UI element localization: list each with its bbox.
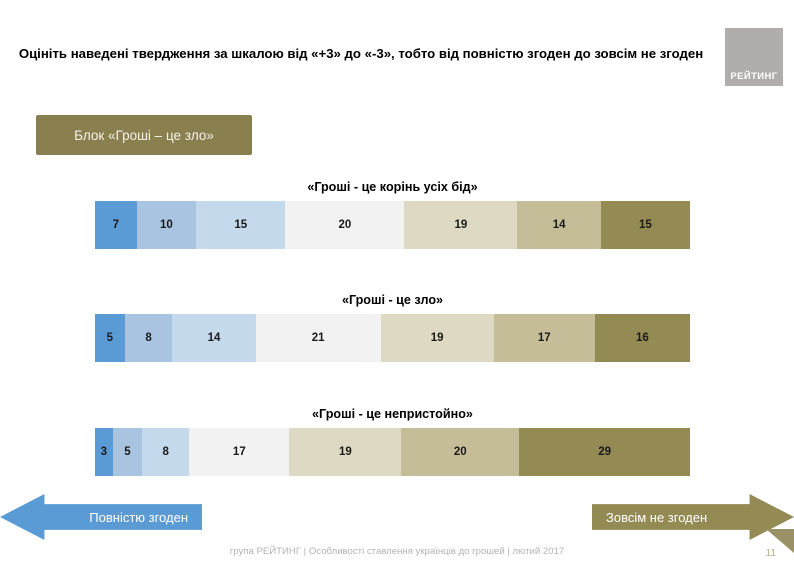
chart-title: «Гроші - це корінь усіх бід» [95,180,690,194]
chart-money-root-of-evil: «Гроші - це корінь усіх бід» 71015201914… [95,180,690,249]
bar-segment: 15 [196,201,285,249]
block-label: Блок «Гроші – це зло» [36,115,252,155]
footer-text: група РЕЙТИНГ | Особливості ставлення ук… [0,546,794,557]
stacked-bar: 7101520191415 [95,201,690,249]
bar-segment: 7 [95,201,137,249]
bar-segment: 19 [289,428,401,476]
rating-logo: РЕЙТИНГ [725,28,783,86]
stacked-bar: 35817192029 [95,428,690,476]
chart-money-is-evil: «Гроші - це зло» 581421191716 [95,293,690,362]
bar-segment: 8 [125,314,173,362]
bar-segment: 29 [519,428,690,476]
block-label-text: Блок «Гроші – це зло» [74,128,214,143]
bar-segment: 14 [517,201,600,249]
legend-arrow-fully-disagree-label: Зовсім не згоден [606,510,707,525]
bar-segment: 16 [595,314,690,362]
chart-title: «Гроші - це зло» [95,293,690,307]
chart-title: «Гроші - це непристойно» [95,407,690,421]
page-title: Оцініть наведені твердження за шкалою ві… [8,44,714,63]
bar-segment: 19 [381,314,494,362]
bar-segment: 15 [601,201,690,249]
chart-money-is-indecent: «Гроші - це непристойно» 35817192029 [95,407,690,476]
bar-segment: 21 [256,314,381,362]
legend-arrow-fully-agree-label: Повністю згоден [89,510,188,525]
bar-segment: 19 [404,201,517,249]
bar-segment: 10 [137,201,197,249]
bar-segment: 5 [113,428,142,476]
stacked-bar: 581421191716 [95,314,690,362]
bar-segment: 17 [494,314,595,362]
bar-segment: 14 [172,314,255,362]
legend-arrow-fully-agree: Повністю згоден [0,494,202,540]
bar-segment: 8 [142,428,189,476]
bar-segment: 20 [401,428,519,476]
bar-segment: 17 [189,428,289,476]
bar-segment: 5 [95,314,125,362]
legend-arrow-fully-disagree: Зовсім не згоден [592,494,794,540]
rating-logo-text: РЕЙТИНГ [730,71,777,86]
bar-segment: 3 [95,428,113,476]
bar-segment: 20 [285,201,404,249]
page-number: 11 [766,548,776,559]
